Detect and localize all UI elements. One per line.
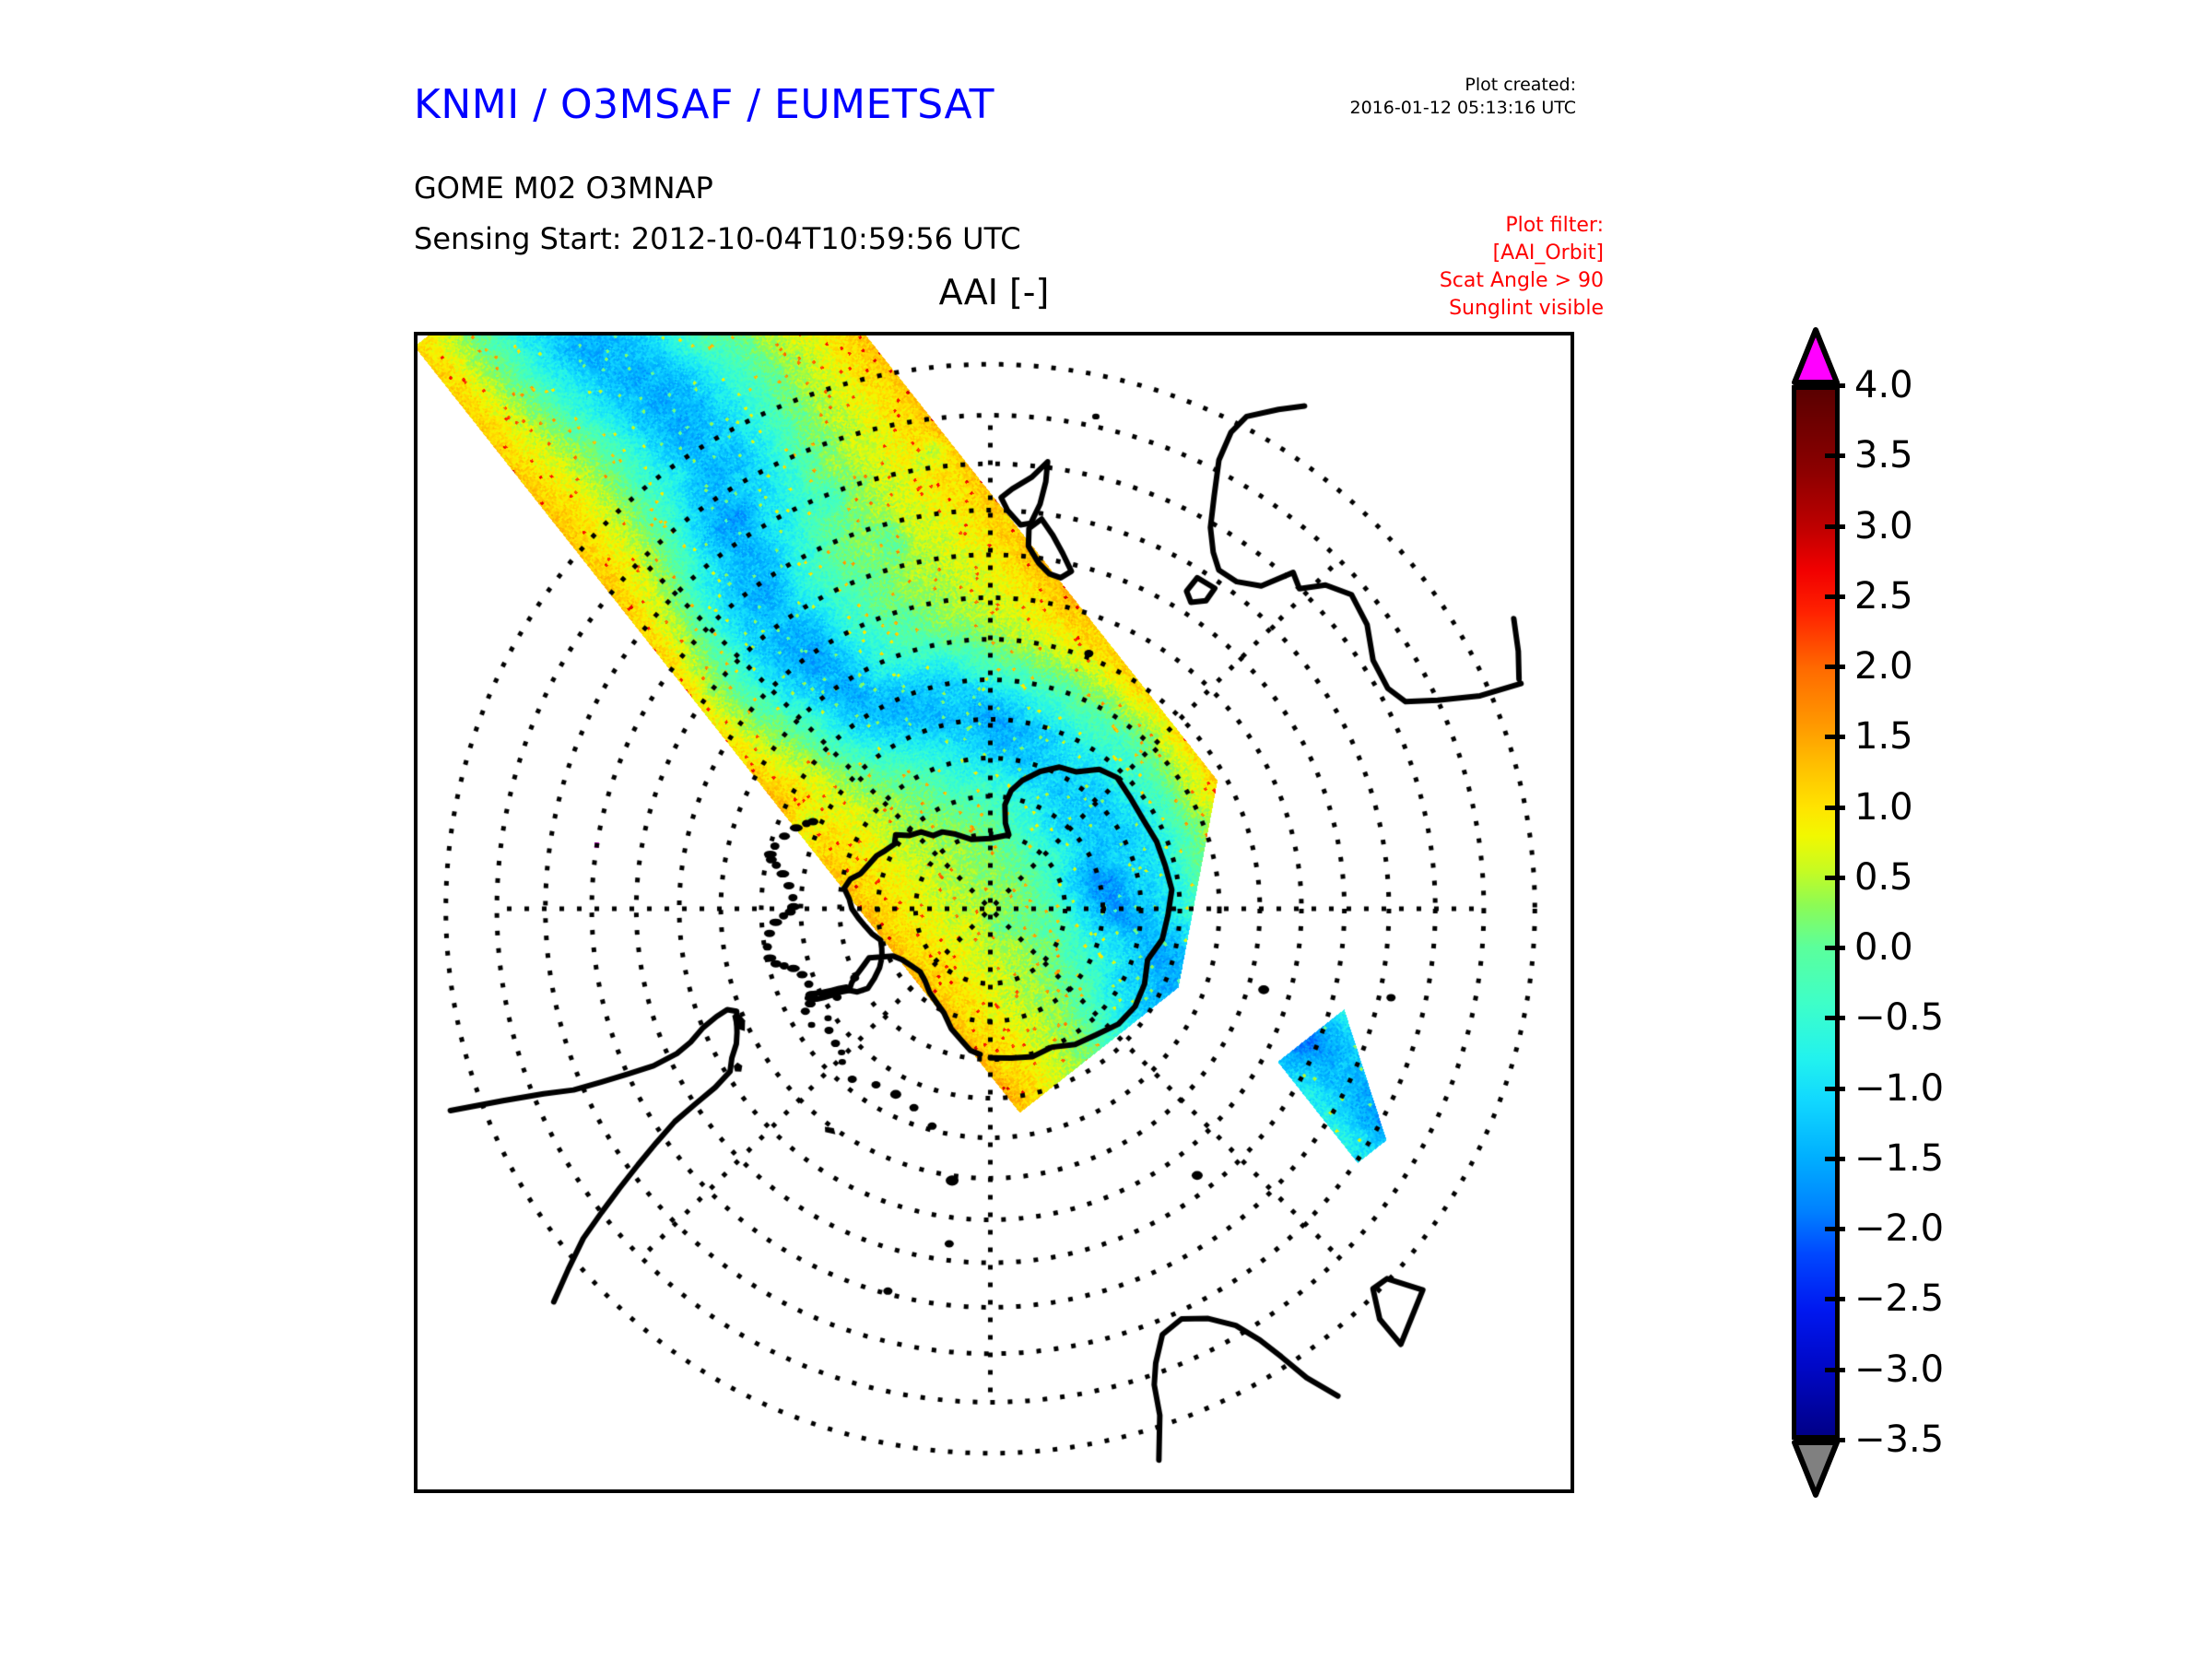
colorbar-tick: [1825, 453, 1845, 458]
colorbar-tick: [1825, 946, 1845, 950]
colorbar-tick: [1825, 665, 1845, 669]
colorbar-tick: [1825, 1368, 1845, 1372]
plot-created-block: Plot created: 2016-01-12 05:13:16 UTC: [1327, 74, 1576, 120]
colorbar-tick: [1825, 594, 1845, 599]
map-plot-area[interactable]: [414, 332, 1574, 1493]
colorbar-tick: [1825, 735, 1845, 739]
polar-map-canvas[interactable]: [418, 335, 1571, 1489]
colorbar-tick-label: 1.5: [1854, 718, 1913, 755]
colorbar-tick: [1825, 876, 1845, 880]
colorbar-tick-label: 3.0: [1854, 508, 1913, 545]
colorbar[interactable]: 4.03.53.02.52.01.51.00.50.0−0.5−1.0−1.5−…: [1792, 327, 2179, 1502]
sensing-start: Sensing Start: 2012-10-04T10:59:56 UTC: [414, 221, 1021, 256]
plot-filter-label: Plot filter:: [1318, 212, 1604, 240]
colorbar-tick: [1825, 806, 1845, 810]
colorbar-tick-label: 1.0: [1854, 789, 1913, 826]
colorbar-tick: [1825, 383, 1845, 388]
colorbar-tick-label: −0.5: [1854, 999, 1944, 1036]
colorbar-tick: [1825, 1438, 1845, 1442]
colorbar-tick-label: 4.0: [1854, 367, 1913, 404]
colorbar-tick: [1825, 1087, 1845, 1091]
colorbar-tick-label: −3.0: [1854, 1351, 1944, 1388]
colorbar-tick-label: 0.5: [1854, 859, 1913, 896]
colorbar-tick: [1825, 1157, 1845, 1161]
colorbar-tick-label: 2.0: [1854, 648, 1913, 685]
colorbar-tick-label: −2.5: [1854, 1280, 1944, 1317]
colorbar-gradient: [1796, 390, 1835, 1435]
plot-created-label: Plot created:: [1327, 74, 1576, 97]
colorbar-under-range-arrow: [1792, 1440, 1840, 1498]
colorbar-tick-label: 2.5: [1854, 578, 1913, 615]
plot-created-value: 2016-01-12 05:13:16 UTC: [1327, 97, 1576, 120]
colorbar-tick-label: 0.0: [1854, 929, 1913, 966]
chart-title: AAI [-]: [414, 272, 1574, 312]
colorbar-tick: [1825, 524, 1845, 529]
colorbar-tick-label: −2.0: [1854, 1210, 1944, 1247]
colorbar-gradient-body: [1792, 385, 1840, 1440]
colorbar-over-range-arrow: [1792, 327, 1840, 385]
organisation-title: KNMI / O3MSAF / EUMETSAT: [414, 81, 994, 128]
product-name: GOME M02 O3MNAP: [414, 171, 713, 206]
colorbar-tick-label: −3.5: [1854, 1421, 1944, 1458]
colorbar-tick: [1825, 1016, 1845, 1020]
colorbar-tick-label: −1.0: [1854, 1070, 1944, 1107]
plot-filter-product: [AAI_Orbit]: [1318, 240, 1604, 267]
colorbar-tick-label: 3.5: [1854, 437, 1913, 474]
colorbar-tick: [1825, 1227, 1845, 1231]
colorbar-tick-label: −1.5: [1854, 1140, 1944, 1177]
colorbar-tick: [1825, 1297, 1845, 1301]
